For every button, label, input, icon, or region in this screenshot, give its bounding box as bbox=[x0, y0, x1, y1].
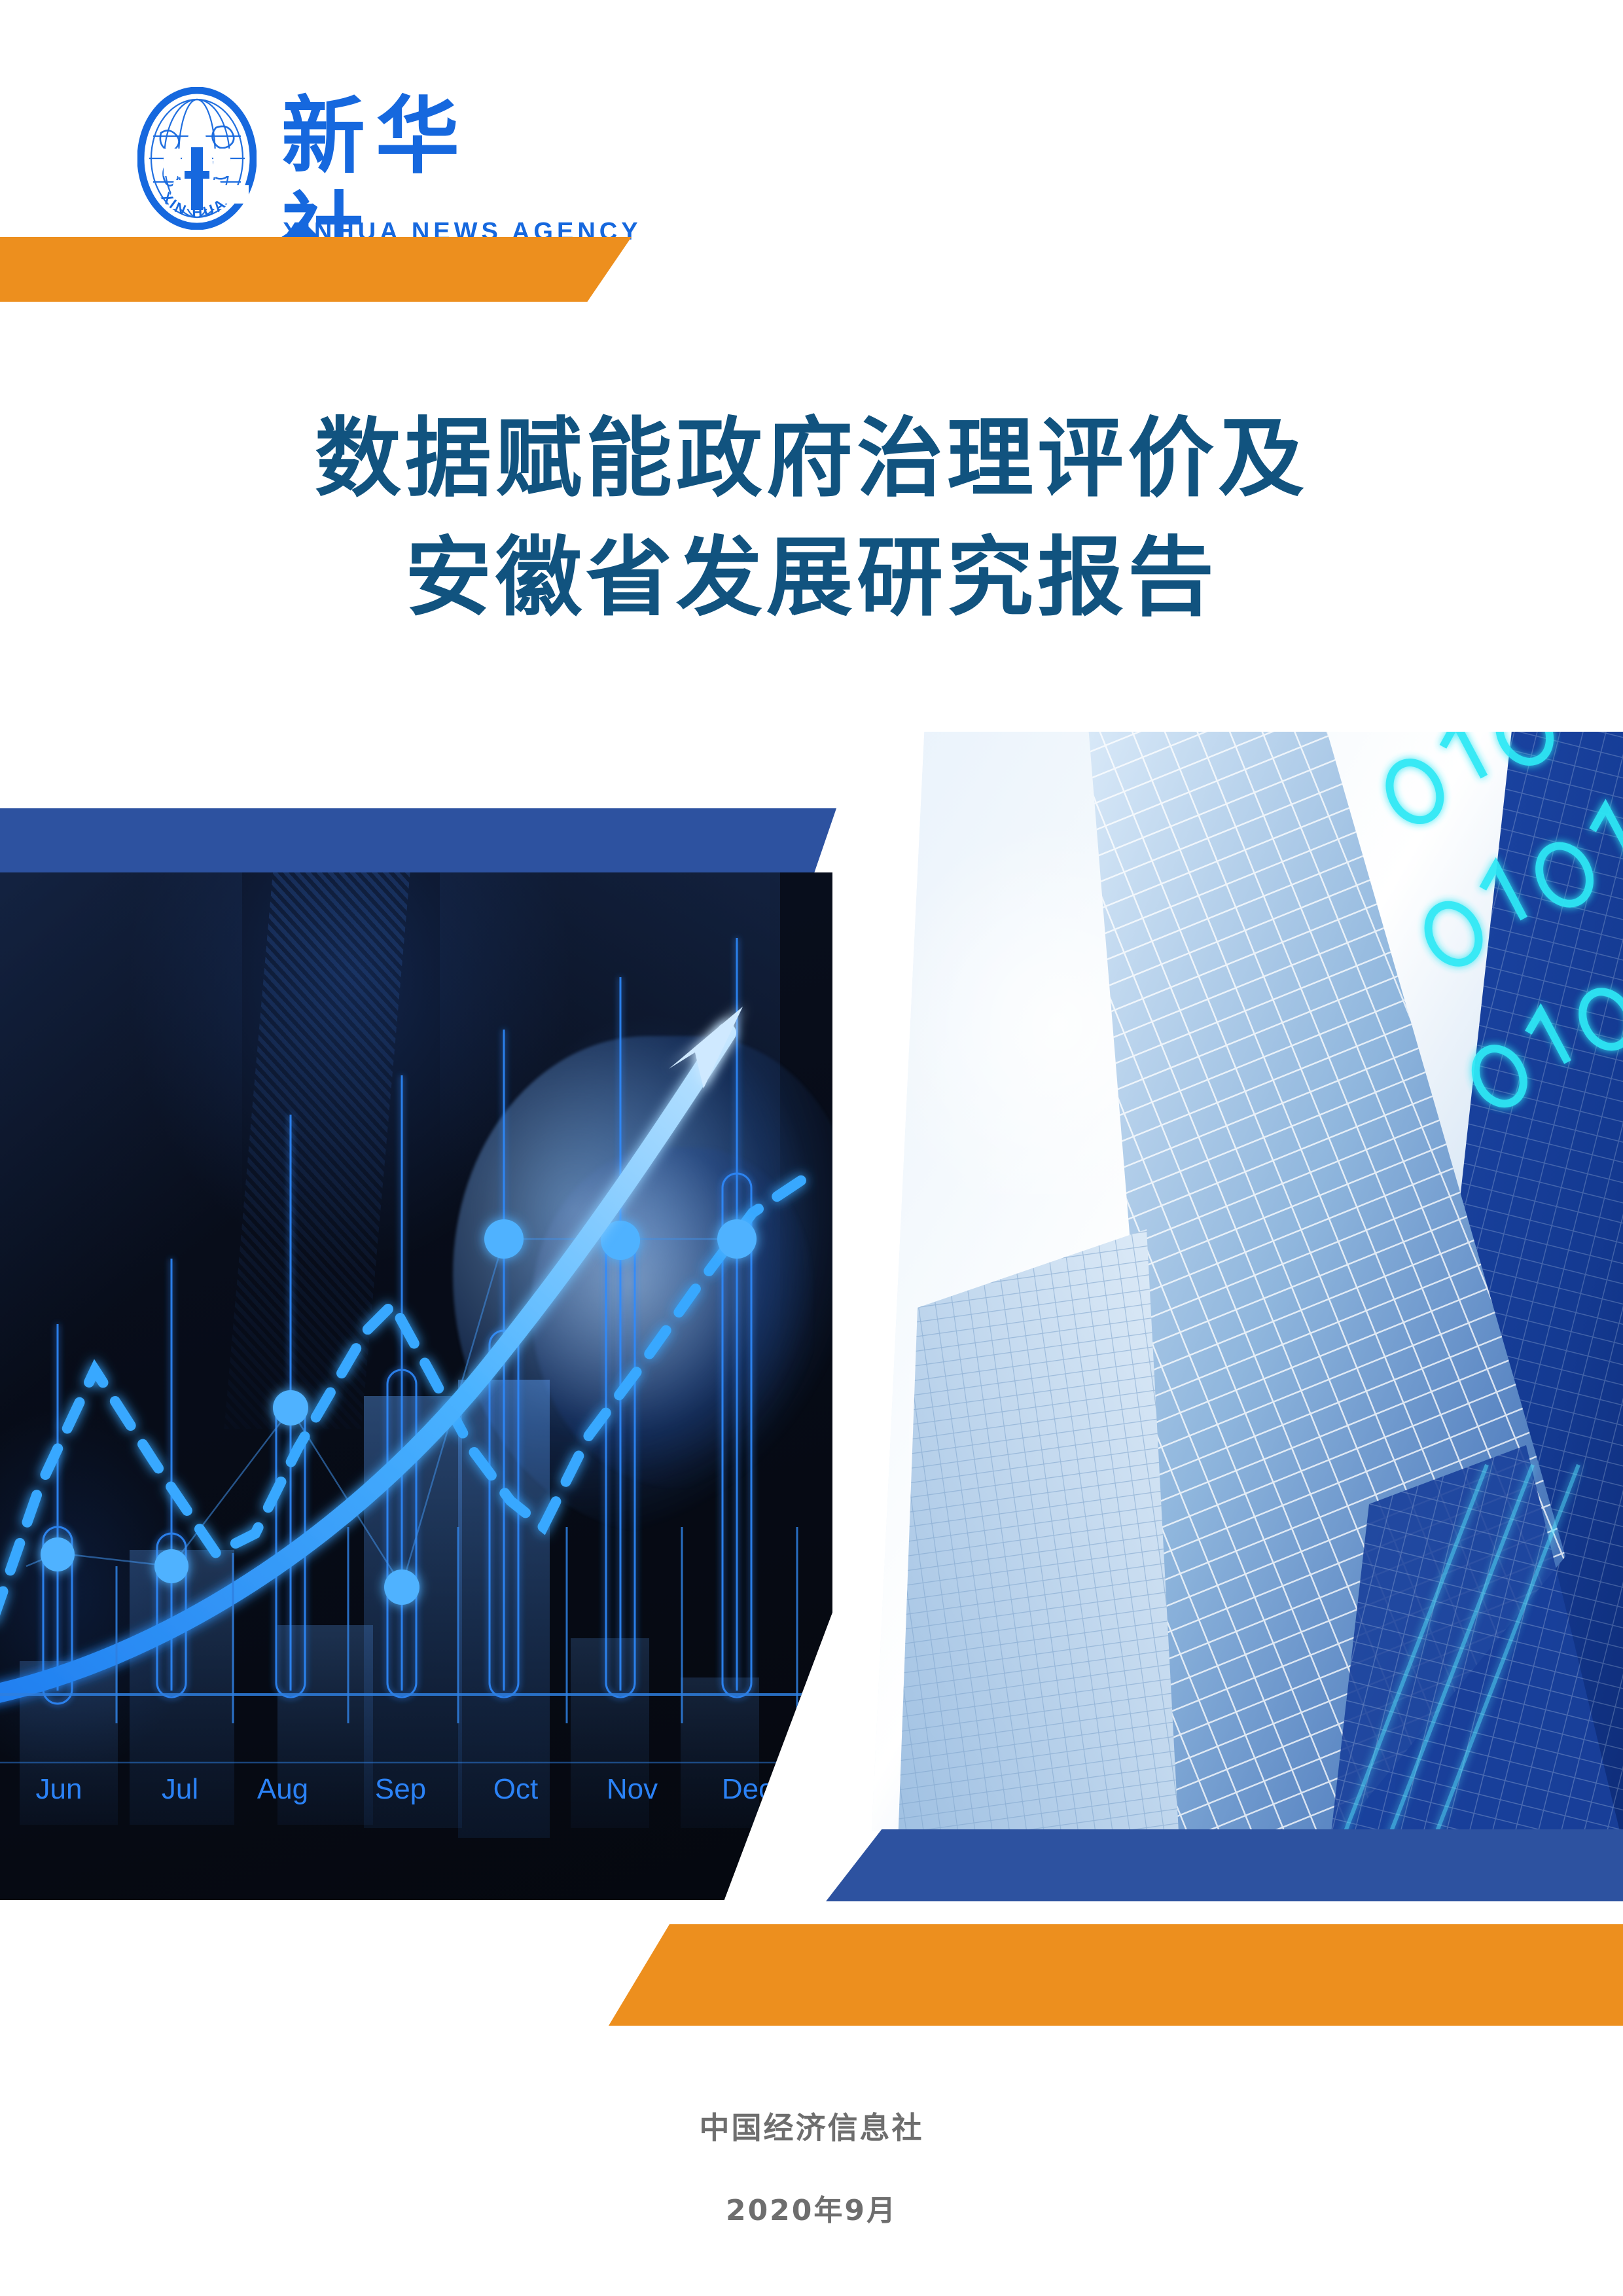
right-photo-buildings bbox=[872, 732, 1623, 1831]
cover-image-left: Jun Jul Aug Sep Oct Nov Dec bbox=[0, 872, 832, 1900]
growth-arrow-curve bbox=[0, 1033, 726, 1697]
x-label-aug: Aug bbox=[257, 1773, 308, 1805]
orange-accent-bar-bottom bbox=[609, 1924, 1623, 2026]
footer-date: 2020年9月 bbox=[0, 2187, 1623, 2229]
growth-arrow-head bbox=[669, 1007, 743, 1088]
xinhua-name-cn: 新华社 bbox=[281, 88, 556, 206]
x-label-jun: Jun bbox=[36, 1773, 82, 1805]
xinhua-emblem-icon: XIN HUA bbox=[137, 87, 257, 230]
page-title-line-1: 数据赋能政府治理评价及 bbox=[0, 399, 1623, 518]
x-label-oct: Oct bbox=[493, 1773, 538, 1805]
blue-accent-bar-bottom bbox=[826, 1829, 1623, 1901]
orange-accent-bar-top bbox=[0, 237, 632, 302]
x-label-dec: Dec bbox=[722, 1773, 773, 1805]
cover-page: XIN HUA 新华社 XINHUA NEWS AGENCY 数据赋能政府治理评… bbox=[0, 0, 1623, 2296]
left-photo-chart-overlay: Jun Jul Aug Sep Oct Nov Dec bbox=[0, 872, 832, 1900]
cover-image-right bbox=[872, 732, 1623, 1831]
cover-footer: 中国经济信息社 2020年9月 bbox=[0, 2104, 1623, 2229]
page-title-line-2: 安徽省发展研究报告 bbox=[0, 518, 1623, 637]
footer-publisher: 中国经济信息社 bbox=[0, 2104, 1623, 2147]
x-label-sep: Sep bbox=[375, 1773, 426, 1805]
x-label-jul: Jul bbox=[162, 1773, 198, 1805]
x-label-nov: Nov bbox=[607, 1773, 658, 1805]
building-lower-left-grid bbox=[898, 1229, 1179, 1831]
xinhua-logo: XIN HUA 新华社 XINHUA NEWS AGENCY bbox=[131, 62, 602, 236]
chart-bars bbox=[20, 1380, 759, 1838]
page-title: 数据赋能政府治理评价及 安徽省发展研究报告 bbox=[0, 399, 1623, 637]
